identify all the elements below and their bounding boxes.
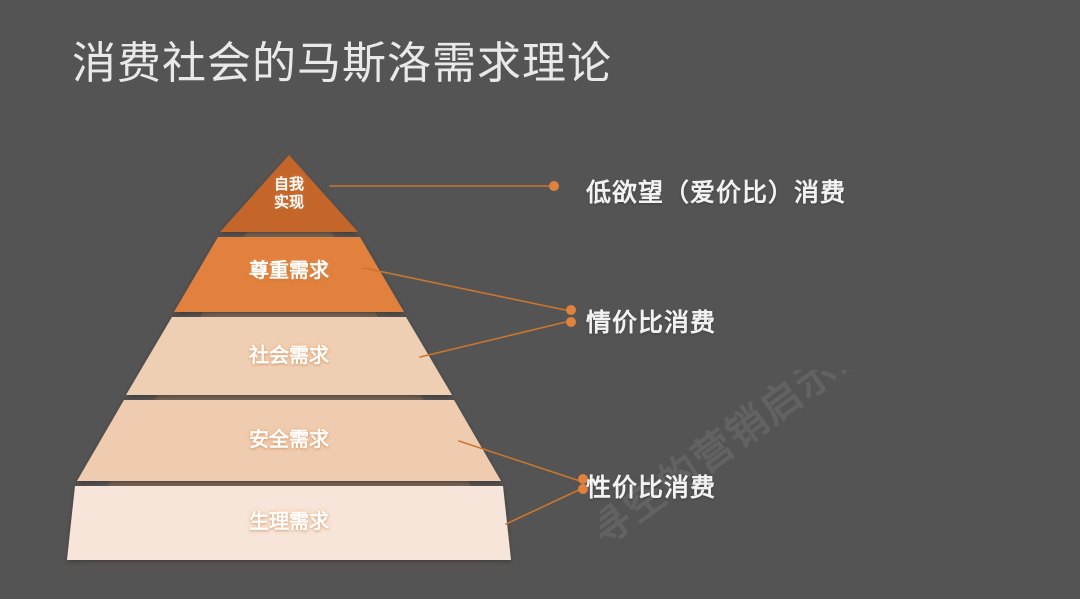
connector-dot-low-desire [549, 181, 559, 191]
connector-dot-esteem [566, 305, 576, 315]
connector-line-physiological [506, 488, 583, 524]
connector-dots [549, 181, 588, 494]
callout-label-emotional-value: 情价比消费 [586, 303, 716, 339]
connector-dot-social [566, 317, 576, 327]
callout-label-cost-performance: 性价比消费 [586, 468, 716, 504]
callout-label-low-desire: 低欲望（爱价比）消费 [586, 173, 846, 209]
pyramid-graphic [0, 0, 1080, 599]
pyramid-tier-safety[interactable] [77, 400, 501, 481]
pyramid-tiers [67, 155, 511, 560]
pyramid-tier-esteem[interactable] [174, 237, 404, 312]
connector-line-social [420, 321, 570, 357]
pyramid-tier-physiological[interactable] [67, 486, 511, 560]
pyramid-tier-social[interactable] [126, 317, 452, 395]
maslow-pyramid: 自我 实现 尊重需求 社会需求 安全需求 生理需求 [0, 0, 1080, 599]
pyramid-tier-self-actualization[interactable] [220, 155, 358, 232]
slide-canvas: 寻空的营销启示录 消费社会的马斯洛需求理论 [0, 0, 1080, 599]
